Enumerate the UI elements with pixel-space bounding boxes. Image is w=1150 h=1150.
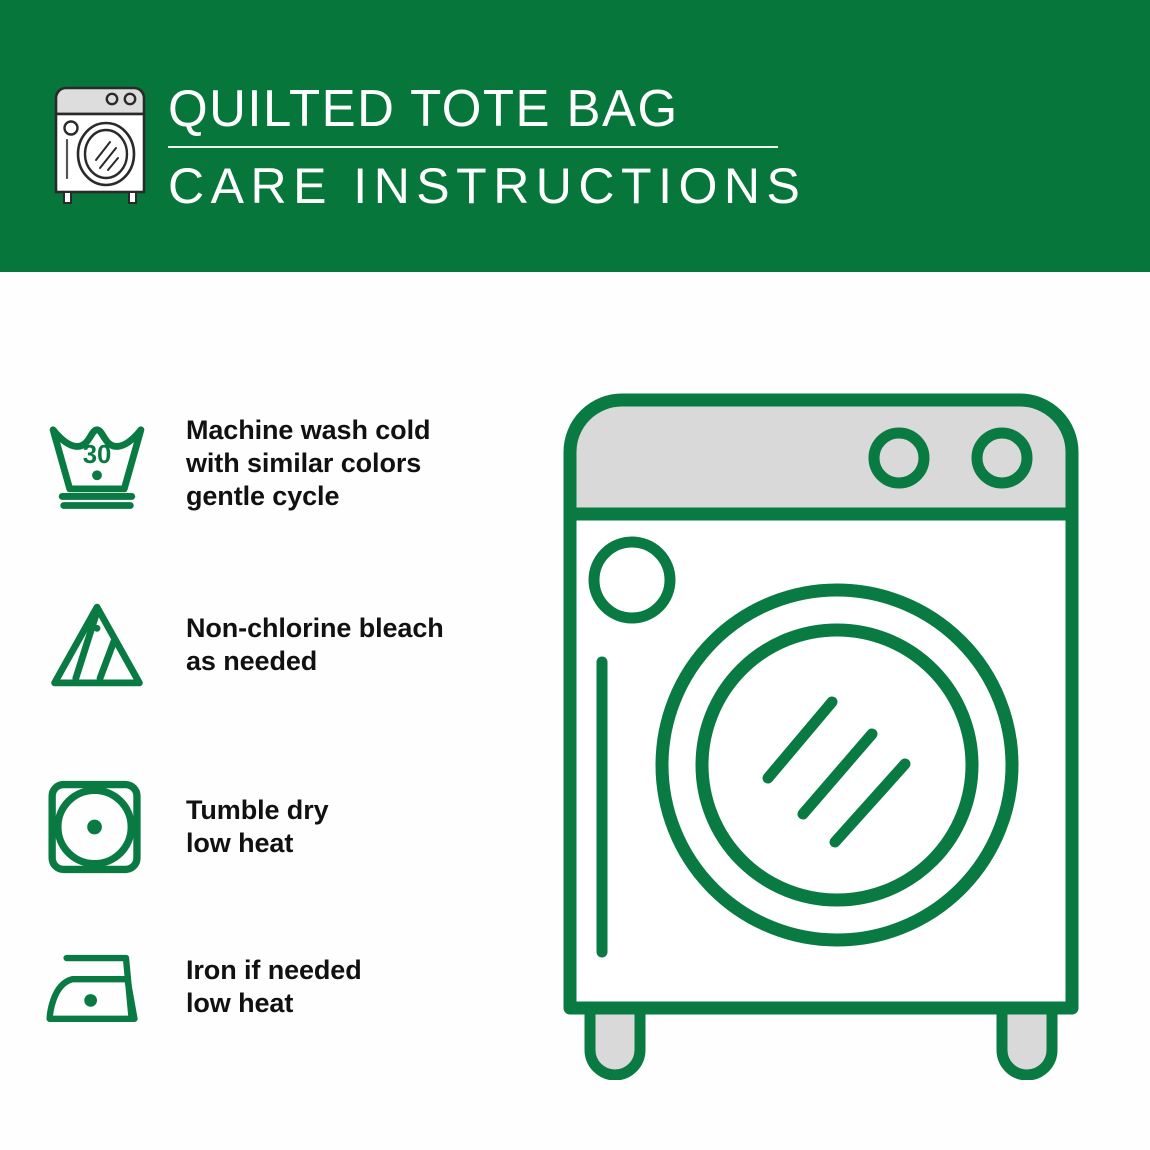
- non-chlorine-bleach-triangle-icon: [0, 582, 150, 708]
- machine-wash-30-gentle-icon: 30: [0, 400, 150, 526]
- header-band: QUILTED TOTE BAG CARE INSTRUCTIONS: [0, 0, 1150, 272]
- washing-machine-icon: [48, 78, 152, 204]
- care-label-machine-wash: Machine wash cold with similar colors ge…: [150, 414, 430, 513]
- machine-control-panel: [570, 400, 1072, 514]
- page-title: QUILTED TOTE BAG: [168, 80, 776, 138]
- wash-temperature-value: 30: [83, 441, 112, 469]
- page-subtitle: CARE INSTRUCTIONS: [168, 158, 788, 214]
- care-label-tumble-dry: Tumble dry low heat: [150, 794, 329, 860]
- care-row-bleach: Non-chlorine bleach as needed: [0, 582, 560, 708]
- care-row-iron: Iron if needed low heat: [0, 924, 560, 1050]
- care-label-bleach: Non-chlorine bleach as needed: [150, 612, 444, 678]
- tumble-dry-low-heat-icon: [0, 764, 150, 890]
- washing-machine-illustration: [560, 380, 1120, 1080]
- care-row-tumble-dry: Tumble dry low heat: [0, 764, 560, 890]
- care-instruction-list: 30 Machine wash cold with similar colors…: [0, 272, 560, 1150]
- care-label-iron: Iron if needed low heat: [150, 954, 362, 1020]
- care-row-machine-wash: 30 Machine wash cold with similar colors…: [0, 400, 560, 526]
- iron-low-heat-icon: [0, 924, 150, 1050]
- care-instructions-page: QUILTED TOTE BAG CARE INSTRUCTIONS 30: [0, 0, 1150, 1150]
- title-divider: [168, 146, 778, 148]
- header-text-group: QUILTED TOTE BAG CARE INSTRUCTIONS: [168, 80, 788, 214]
